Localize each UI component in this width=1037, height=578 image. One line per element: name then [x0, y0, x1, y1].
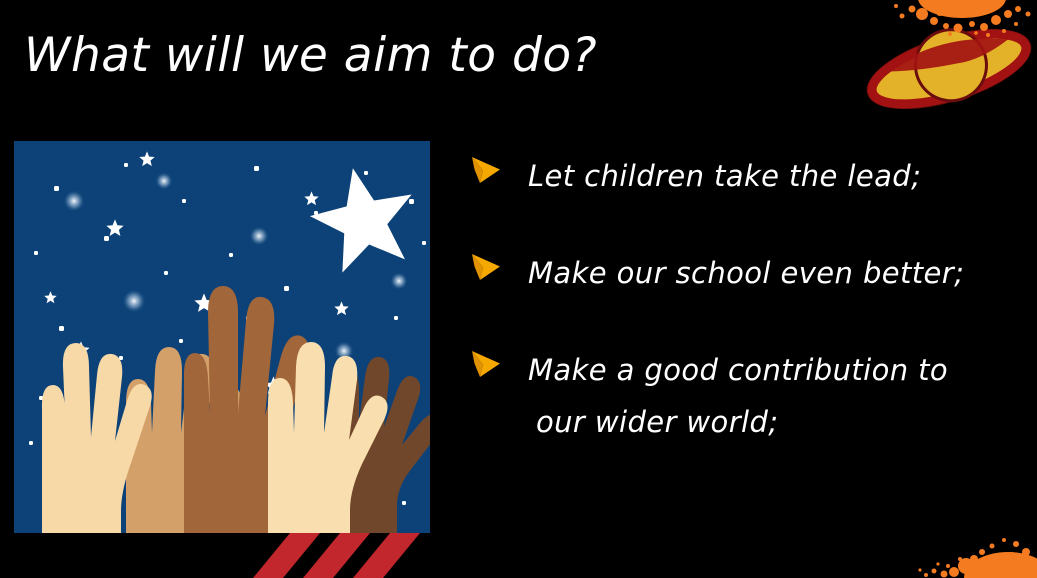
list-item: Let children take the lead; — [470, 150, 1015, 202]
orange-paint-splatter-bottom — [912, 526, 1037, 578]
bullet-list: Let children take the lead; Make our sch… — [470, 150, 1015, 448]
presentation-slide: What will we aim to do? — [0, 0, 1037, 578]
raised-hands-image — [14, 141, 430, 533]
red-diagonal-stripes — [215, 533, 445, 578]
list-item-label: Make a good contribution to our wider wo… — [528, 344, 1015, 448]
list-item: Make a good contribution to our wider wo… — [470, 344, 1015, 448]
raised-hands-graphic — [14, 141, 430, 533]
list-item-line-1: Make a good contribution to — [528, 353, 948, 387]
list-item-label: Let children take the lead; — [528, 150, 1015, 202]
list-item: Make our school even better; — [470, 247, 1015, 299]
list-item-line-2: our wider world; — [536, 396, 1015, 448]
orange-paint-splatter-top — [888, 0, 1037, 45]
arrowhead-bullet-icon — [470, 350, 502, 378]
arrowhead-bullet-icon — [470, 156, 502, 184]
arrowhead-bullet-icon — [470, 253, 502, 281]
list-item-label: Make our school even better; — [528, 247, 1015, 299]
page-title: What will we aim to do? — [24, 28, 597, 84]
